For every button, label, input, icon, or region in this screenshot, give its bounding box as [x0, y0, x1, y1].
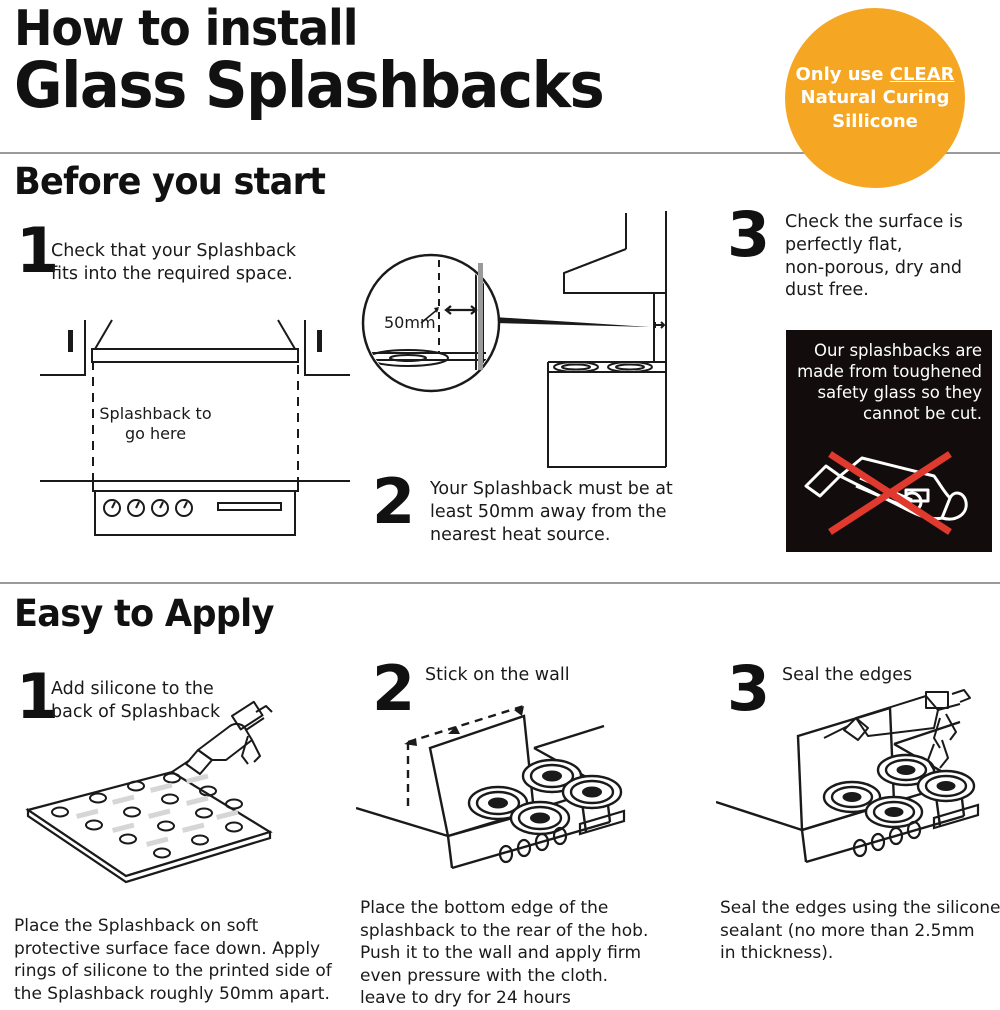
easy-step-2-caption: Place the bottom edge of the splashback …: [360, 897, 690, 1010]
badge-line3: Sillicone: [832, 111, 918, 132]
section-heading-before-you-start: Before you start: [14, 160, 325, 203]
before-step-1-text: Check that your Splashback fits into the…: [51, 240, 321, 286]
before-step-2-text: Your Splashback must be at least 50mm aw…: [430, 478, 692, 546]
before-step-1-diagram-label: Splashback to go here: [93, 404, 218, 444]
badge-text: Only use CLEAR Natural Curing Sillicone: [789, 63, 960, 133]
section-heading-easy-to-apply: Easy to Apply: [14, 592, 274, 635]
caulking-gun-icon: [172, 702, 272, 774]
easy-step-3-caption: Seal the edges using the silicone sealan…: [720, 897, 1000, 965]
badge-line1-underlined: CLEAR: [890, 64, 955, 85]
before-step-2-diagram-label: 50mm: [384, 313, 436, 332]
before-step-3-text: Check the surface is perfectly flat, non…: [785, 211, 995, 302]
easy-step-2-title: Stick on the wall: [425, 664, 675, 687]
clear-silicone-badge: Only use CLEAR Natural Curing Sillicone: [785, 8, 965, 188]
badge-line1-pre: Only use: [795, 64, 889, 85]
warning-panel-text: Our splashbacks are made from toughened …: [796, 340, 982, 424]
easy-step-3-caulking-gun-icon: [822, 688, 1000, 778]
easy-step-1-caption: Place the Splashback on soft protective …: [14, 915, 344, 1005]
easy-step-1-diagram: [20, 700, 340, 900]
easy-step-3-title: Seal the edges: [782, 664, 997, 687]
before-step-3-number: 3: [727, 206, 770, 263]
page-title-line2: Glass Splashbacks: [14, 54, 603, 117]
warning-panel: Our splashbacks are made from toughened …: [786, 330, 992, 552]
divider-middle: [0, 582, 1000, 584]
badge-line2: Natural Curing: [801, 87, 950, 108]
page-title-line1: How to install: [14, 4, 357, 53]
utility-knife-crossed-out-icon: [800, 440, 980, 540]
easy-step-2-diagram: [356, 690, 704, 880]
before-step-2-diagram: [358, 205, 700, 480]
before-step-2-number: 2: [372, 473, 415, 530]
poster-root: How to install Glass Splashbacks Only us…: [0, 0, 1000, 1000]
